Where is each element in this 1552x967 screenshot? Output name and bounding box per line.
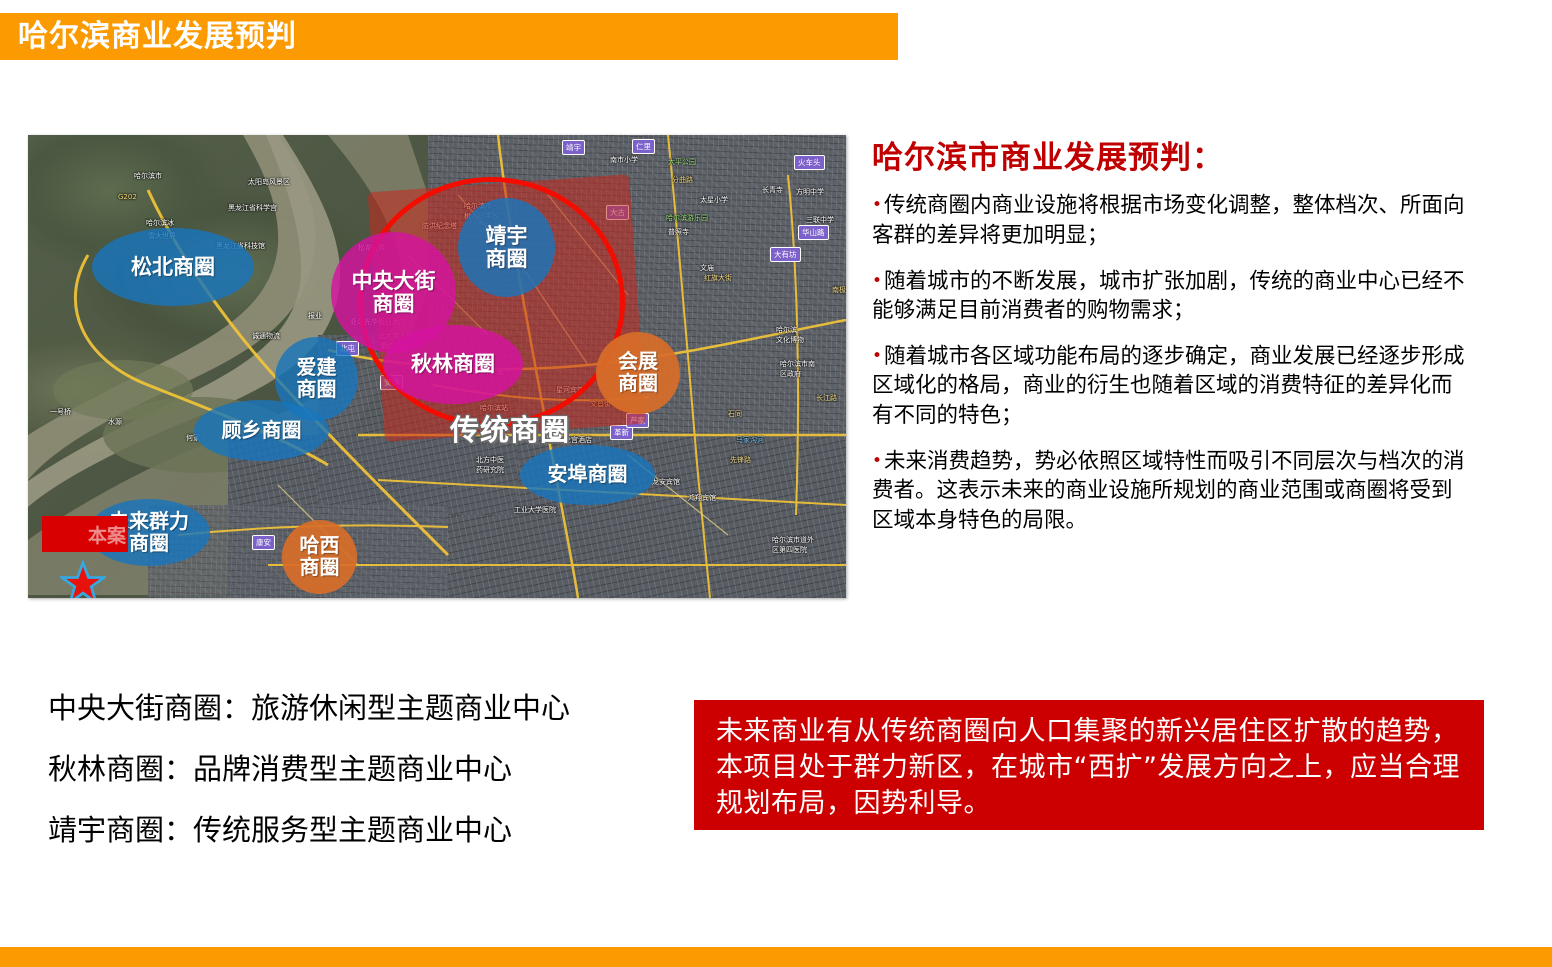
map-chip: 大有坊 [770, 247, 801, 262]
poi-label: 哈尔滨市 [134, 171, 162, 181]
poi-label: 区政府 [780, 369, 801, 379]
list-item: 中央大街商圈：旅游休闲型主题商业中心 [48, 694, 688, 723]
bubble-jingyu[interactable]: 靖宇 商圈 [458, 198, 555, 297]
list-item: 秋林商圈：品牌消费型主题商业中心 [48, 755, 688, 784]
map-chip: 华山路 [798, 225, 829, 240]
district-type-list: 中央大街商圈：旅游休闲型主题商业中心 秋林商圈：品牌消费型主题商业中心 靖宇商圈… [48, 694, 688, 877]
analysis-bullet: •传统商圈内商业设施将根据市场变化调整，整体档次、所面向客群的差异将更加明显； [872, 191, 1472, 250]
poi-label: 报业 [308, 311, 322, 321]
poi-label: 太平公园 [668, 157, 696, 167]
conclusion-text: 未来商业有从传统商圈向人口集聚的新兴居住区扩散的趋势，本项目处于群力新区，在城市… [716, 714, 1464, 823]
poi-label: 水源 [108, 417, 122, 427]
poi-label: 工业大学医院 [514, 505, 556, 515]
poi-label: 文化博物 [776, 335, 804, 345]
analysis-bullet: •随着城市的不断发展，城市扩张加剧，传统的商业中心已经不能够满足目前消费者的购物… [872, 267, 1472, 326]
conclusion-callout: 未来商业有从传统商圈向人口集聚的新兴居住区扩散的趋势，本项目处于群力新区，在城市… [694, 700, 1484, 830]
poi-label: 哈尔滨冰 [146, 218, 174, 228]
road-label-g202: G202 [118, 193, 137, 201]
poi-label: 太星小学 [700, 195, 728, 205]
road-label: 红旗大街 [704, 273, 732, 283]
analysis-bullet: •未来消费趋势，势必依照区域特性而吸引不同层次与档次的消费者。这表示未来的商业设… [872, 447, 1472, 536]
road-label: 长江路 [816, 393, 837, 403]
bullet-dot-icon: • [872, 451, 882, 471]
site-star-icon [60, 560, 106, 598]
bullet-dot-icon: • [872, 271, 882, 291]
bullet-dot-icon: • [872, 346, 882, 366]
poi-label: 鸿翔宾馆 [688, 493, 716, 503]
poi-label: 三联中学 [806, 215, 834, 225]
page-title: 哈尔滨商业发展预判 [18, 22, 297, 52]
poi-label: 南市小学 [610, 155, 638, 165]
bullet-dot-icon: • [872, 195, 882, 215]
poi-label: 太阳岛风景区 [248, 177, 290, 187]
poi-label: 文庙 [700, 263, 714, 273]
footer-bar [0, 947, 1552, 967]
analysis-bullet: •随着城市各区域功能布局的逐步确定，商业发展已经逐步形成区域化的格局，商业的衍生… [872, 342, 1472, 431]
bubble-qiulin[interactable]: 秋林商圈 [383, 325, 523, 404]
poi-label: 长青寺 [762, 185, 783, 195]
road-label: 先锋路 [730, 455, 751, 465]
poi-label: 药研究院 [476, 465, 504, 475]
poi-label: 哈尔滨市道外 [772, 535, 814, 545]
road-label: 马家沟河 [736, 435, 764, 445]
header-bar: 哈尔滨商业发展预判 [0, 13, 898, 60]
poi-label: 普照寺 [668, 227, 689, 237]
site-marker-tag: 本案 [42, 516, 128, 552]
bubble-guxiang[interactable]: 顾乡商圈 [194, 400, 329, 461]
poi-label: 黑龙江省科学宫 [228, 203, 277, 213]
poi-label: 北方中医 [476, 455, 504, 465]
map-chip: 靖宇 [562, 140, 585, 155]
poi-label: 一号桥 [50, 407, 71, 417]
poi-label: 诚通物流 [252, 331, 280, 341]
poi-label: 哈尔滨市南 [780, 359, 815, 369]
map-chip: 康安 [252, 535, 275, 550]
poi-label: 区第四医院 [772, 545, 807, 555]
poi-label: 哈尔滨 [776, 325, 797, 335]
poi-label: 龙安宾馆 [652, 477, 680, 487]
analysis-title: 哈尔滨市商业发展预判： [872, 140, 1472, 177]
bubble-haxi[interactable]: 哈西 商圈 [282, 520, 357, 594]
map-chip: 火车头 [794, 155, 825, 170]
poi-label: 哈尔滨游乐园 [666, 213, 708, 223]
analysis-panel: 哈尔滨市商业发展预判： •传统商圈内商业设施将根据市场变化调整，整体档次、所面向… [872, 140, 1472, 552]
bubble-huizhan[interactable]: 会展 商圈 [596, 332, 680, 414]
map-chip: 仁里 [632, 139, 655, 154]
map-panel[interactable]: 哈尔滨市 G202 太阳岛风景区 黑龙江省科学宫 哈尔滨冰 雪大世界 黑龙江省科… [28, 135, 846, 598]
road-label: 分曲路 [672, 175, 693, 185]
list-item: 靖宇商圈：传统服务型主题商业中心 [48, 816, 688, 845]
poi-label: 方明中学 [796, 187, 824, 197]
bubble-anbu[interactable]: 安埠商圈 [520, 445, 655, 505]
traditional-zone-label: 传统商圈 [450, 407, 570, 449]
bubble-songbei[interactable]: 松北商圈 [92, 228, 254, 306]
road-label: 南极路 [832, 285, 846, 295]
road-label: 石同 [728, 409, 742, 419]
